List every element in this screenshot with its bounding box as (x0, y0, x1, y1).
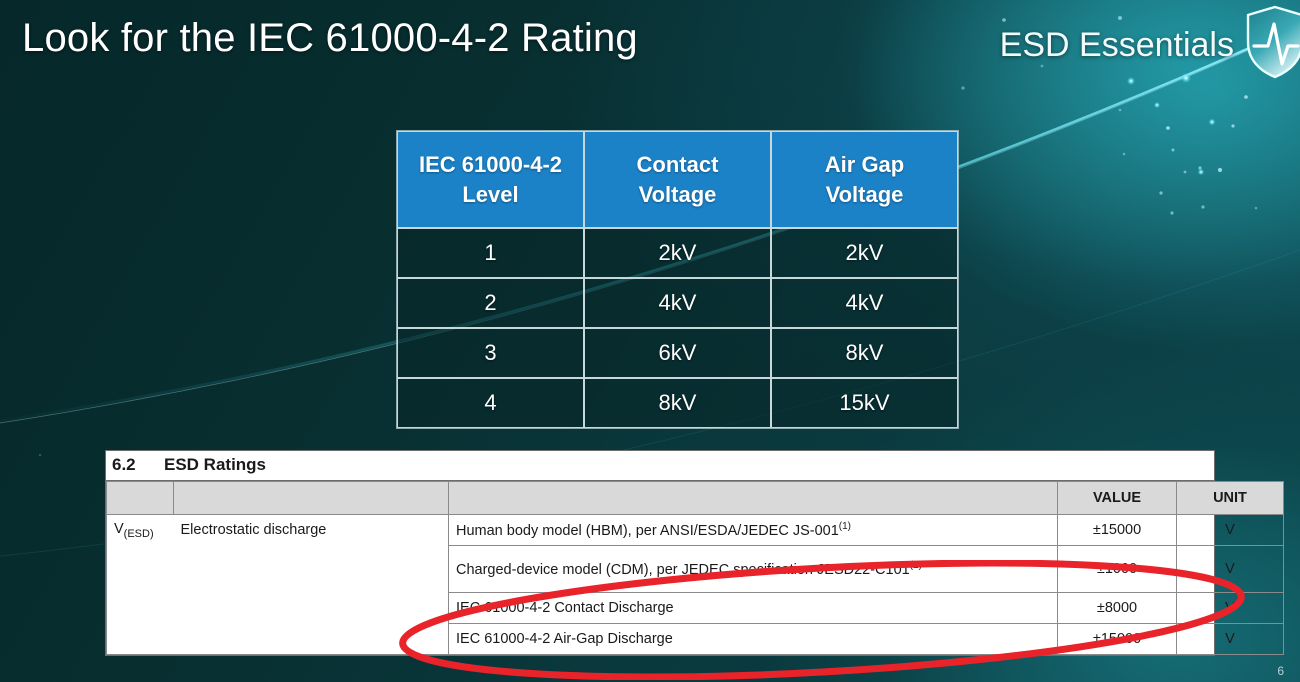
table-row: Charged-device model (CDM), per JEDEC sp… (107, 546, 1284, 593)
datasheet-unit-cell: V (1177, 515, 1284, 546)
iec-header-level-line2: Level (404, 180, 577, 210)
datasheet-description-cell: IEC 61000-4-2 Contact Discharge (449, 593, 1058, 624)
datasheet-parameter-spacer (174, 593, 449, 624)
datasheet-header-symbol (107, 482, 174, 515)
datasheet-symbol-vesd: V(ESD) (107, 515, 174, 546)
iec-contact-cell: 4kV (584, 278, 771, 328)
datasheet-value-cell: ±1000 (1058, 546, 1177, 593)
page-title: Look for the IEC 61000-4-2 Rating (22, 14, 638, 62)
table-row: V(ESD) Electrostatic discharge Human bod… (107, 515, 1284, 546)
iec-level-cell: 3 (397, 328, 584, 378)
iec-contact-cell: 8kV (584, 378, 771, 428)
datasheet-symbol-spacer (107, 546, 174, 593)
datasheet-unit-cell: V (1177, 546, 1284, 593)
table-row: 4 8kV 15kV (397, 378, 958, 428)
iec-contact-cell: 2kV (584, 228, 771, 278)
table-row: 2 4kV 4kV (397, 278, 958, 328)
iec-airgap-cell: 2kV (771, 228, 958, 278)
datasheet-grid: VALUE UNIT V(ESD) Electrostatic discharg… (106, 481, 1284, 655)
iec-header-airgap-line2: Voltage (778, 180, 951, 210)
datasheet-header-parameter (174, 482, 449, 515)
datasheet-parameter-text: Electrostatic discharge (181, 522, 327, 538)
iec-header-airgap-line1: Air Gap (778, 150, 951, 180)
datasheet-unit-cell: V (1177, 593, 1284, 624)
iec-header-contact-line1: Contact (591, 150, 764, 180)
datasheet-header-unit: UNIT (1177, 482, 1284, 515)
datasheet-parameter-spacer (174, 546, 449, 593)
iec-level-cell: 1 (397, 228, 584, 278)
datasheet-header-row: VALUE UNIT (107, 482, 1284, 515)
datasheet-description-text: Charged-device model (CDM), per JEDEC sp… (456, 562, 910, 578)
slide-number: 6 (1277, 664, 1284, 678)
table-row: 3 6kV 8kV (397, 328, 958, 378)
datasheet-description-text: IEC 61000-4-2 Contact Discharge (456, 600, 674, 616)
datasheet-symbol-spacer (107, 624, 174, 655)
datasheet-description-cell: Human body model (HBM), per ANSI/ESDA/JE… (449, 515, 1058, 546)
datasheet-unit-cell: V (1177, 624, 1284, 655)
datasheet-description-cell: Charged-device model (CDM), per JEDEC sp… (449, 546, 1058, 593)
iec-header-airgap: Air Gap Voltage (771, 131, 958, 228)
datasheet-parameter-label: Electrostatic discharge (174, 515, 449, 546)
brand-lockup: ESD Essentials (1000, 10, 1292, 80)
datasheet-value-cell: ±8000 (1058, 593, 1177, 624)
datasheet-esd-ratings-table: 6.2ESD Ratings VALUE UNIT V(ESD) Electro… (105, 450, 1215, 656)
datasheet-symbol-subscript: (ESD) (124, 528, 154, 540)
datasheet-section-title: ESD Ratings (164, 455, 266, 474)
iec-level-table: IEC 61000-4-2 Level Contact Voltage Air … (397, 131, 958, 428)
iec-table-header-row: IEC 61000-4-2 Level Contact Voltage Air … (397, 131, 958, 228)
datasheet-section-heading: 6.2ESD Ratings (106, 451, 1214, 481)
table-row: IEC 61000-4-2 Air-Gap Discharge ±15000 V (107, 624, 1284, 655)
iec-header-level-line1: IEC 61000-4-2 (404, 150, 577, 180)
datasheet-description-footnote: (2) (910, 560, 922, 571)
datasheet-description-text: Human body model (HBM), per ANSI/ESDA/JE… (456, 523, 839, 539)
datasheet-description-text: IEC 61000-4-2 Air-Gap Discharge (456, 631, 673, 647)
iec-airgap-cell: 4kV (771, 278, 958, 328)
slide-canvas: Look for the IEC 61000-4-2 Rating ESD Es… (0, 0, 1300, 682)
table-row: IEC 61000-4-2 Contact Discharge ±8000 V (107, 593, 1284, 624)
datasheet-header-description (449, 482, 1058, 515)
datasheet-symbol-letter: V (114, 521, 124, 537)
table-row: 1 2kV 2kV (397, 228, 958, 278)
iec-header-contact: Contact Voltage (584, 131, 771, 228)
iec-airgap-cell: 8kV (771, 328, 958, 378)
datasheet-symbol-spacer (107, 593, 174, 624)
iec-level-cell: 4 (397, 378, 584, 428)
datasheet-section-number: 6.2 (112, 455, 164, 475)
brand-title: ESD Essentials (1000, 26, 1234, 65)
iec-contact-cell: 6kV (584, 328, 771, 378)
datasheet-value-cell: ±15000 (1058, 624, 1177, 655)
iec-level-cell: 2 (397, 278, 584, 328)
datasheet-description-cell: IEC 61000-4-2 Air-Gap Discharge (449, 624, 1058, 655)
iec-header-level: IEC 61000-4-2 Level (397, 131, 584, 228)
datasheet-header-value: VALUE (1058, 482, 1177, 515)
shield-pulse-icon (1244, 4, 1300, 80)
iec-airgap-cell: 15kV (771, 378, 958, 428)
datasheet-description-footnote: (1) (839, 521, 851, 532)
datasheet-parameter-spacer (174, 624, 449, 655)
datasheet-value-cell: ±15000 (1058, 515, 1177, 546)
iec-header-contact-line2: Voltage (591, 180, 764, 210)
